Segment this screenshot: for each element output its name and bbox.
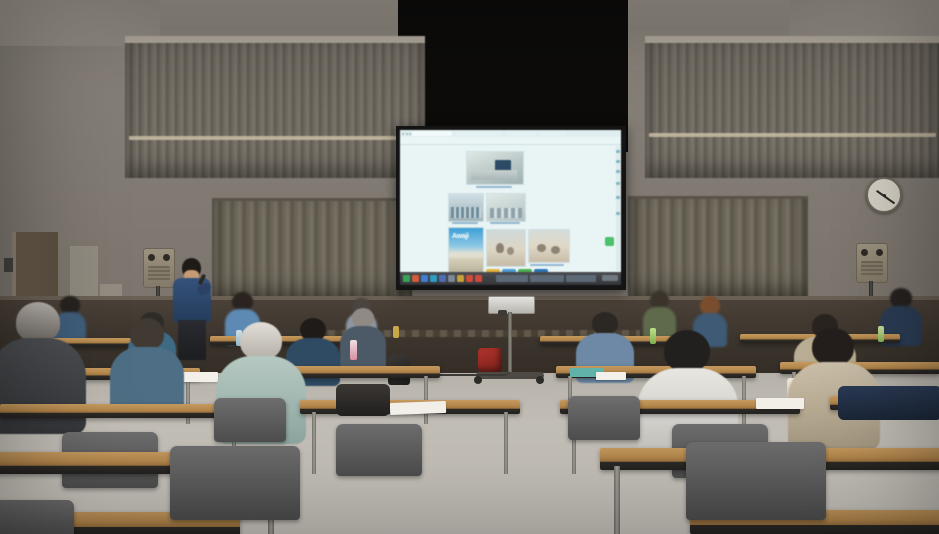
thumb-awaji-poster[interactable]: Awaji — [448, 227, 484, 273]
thumb-lecture-room[interactable] — [466, 151, 524, 185]
analog-wall-clock — [866, 177, 902, 213]
caster-wheel — [536, 376, 544, 384]
upper-curtain-right — [645, 36, 939, 178]
stage-curtain-right — [628, 196, 808, 304]
water-bottle — [650, 328, 656, 344]
awaji-poster-text: Awaji — [452, 233, 469, 240]
jacket-on-chair — [336, 384, 390, 416]
thumb-group-photo[interactable] — [448, 193, 484, 222]
wall-notice-panel — [70, 246, 98, 296]
stage-curtain-left — [212, 198, 412, 306]
thumb-shorebirds[interactable] — [528, 229, 570, 263]
caster-wheel — [474, 376, 482, 384]
chair[interactable] — [568, 396, 640, 440]
table — [210, 336, 360, 345]
projection-screen[interactable]: Awaji — [400, 130, 621, 285]
handout-paper — [756, 398, 804, 409]
handout-paper — [596, 372, 626, 380]
pa-speaker-left — [143, 248, 175, 288]
web-page-content: Awaji — [400, 145, 621, 272]
pa-speaker-right — [856, 243, 888, 283]
chair[interactable] — [336, 424, 422, 476]
jacket-on-chair — [838, 386, 939, 420]
taskbar-clock — [602, 275, 618, 281]
water-bottle — [878, 326, 884, 342]
handout-paper — [178, 372, 218, 382]
page-scrollbar[interactable] — [616, 146, 620, 271]
thumb-classroom[interactable] — [486, 193, 526, 222]
lecture-hall-photo: Awaji — [0, 0, 939, 534]
projector-lens — [498, 310, 507, 315]
open-notebook — [390, 401, 446, 415]
chair[interactable] — [214, 398, 286, 442]
snack-item — [393, 326, 399, 338]
chair[interactable] — [0, 500, 74, 534]
drink-bottle — [350, 340, 357, 360]
upper-curtain-left — [125, 36, 425, 178]
table — [0, 404, 250, 418]
windows-taskbar[interactable] — [400, 272, 621, 285]
red-equipment-bag — [478, 348, 502, 372]
chair[interactable] — [170, 446, 300, 520]
browser-address-bar[interactable] — [400, 137, 621, 145]
thumb-beach-birds[interactable] — [486, 229, 526, 267]
projector-stand-post — [508, 312, 512, 374]
page-action-button[interactable] — [605, 237, 614, 246]
power-cable — [430, 370, 510, 376]
light-switch[interactable] — [4, 258, 13, 272]
chair[interactable] — [686, 442, 826, 520]
